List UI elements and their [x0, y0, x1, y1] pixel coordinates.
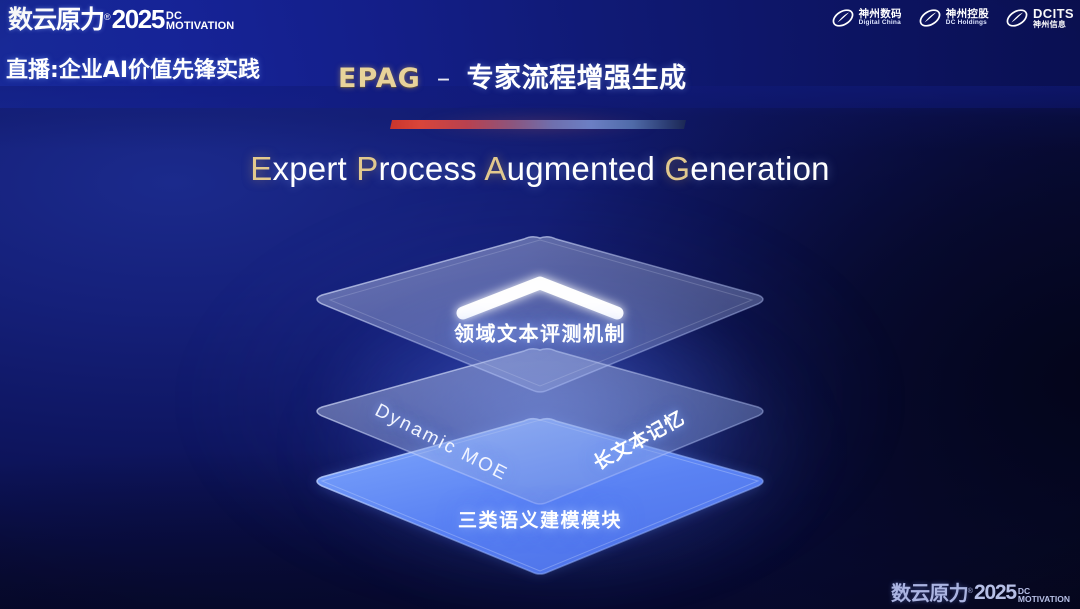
- slide-canvas: 数云原力 ® 2025 DC MOTIVATION 直播:企业AI价值先锋实践 …: [0, 0, 1080, 609]
- watermark-dc-line2: MOTIVATION: [1018, 595, 1070, 603]
- watermark-cn: 数云原力: [891, 583, 968, 603]
- watermark-year: 2025: [974, 582, 1016, 603]
- watermark-logo: 数云原力 ® 2025 DC MOTIVATION: [891, 582, 1070, 603]
- watermark-registered: ®: [968, 588, 973, 595]
- watermark-dc: DC MOTIVATION: [1018, 587, 1070, 603]
- background-vignette: [0, 0, 1080, 609]
